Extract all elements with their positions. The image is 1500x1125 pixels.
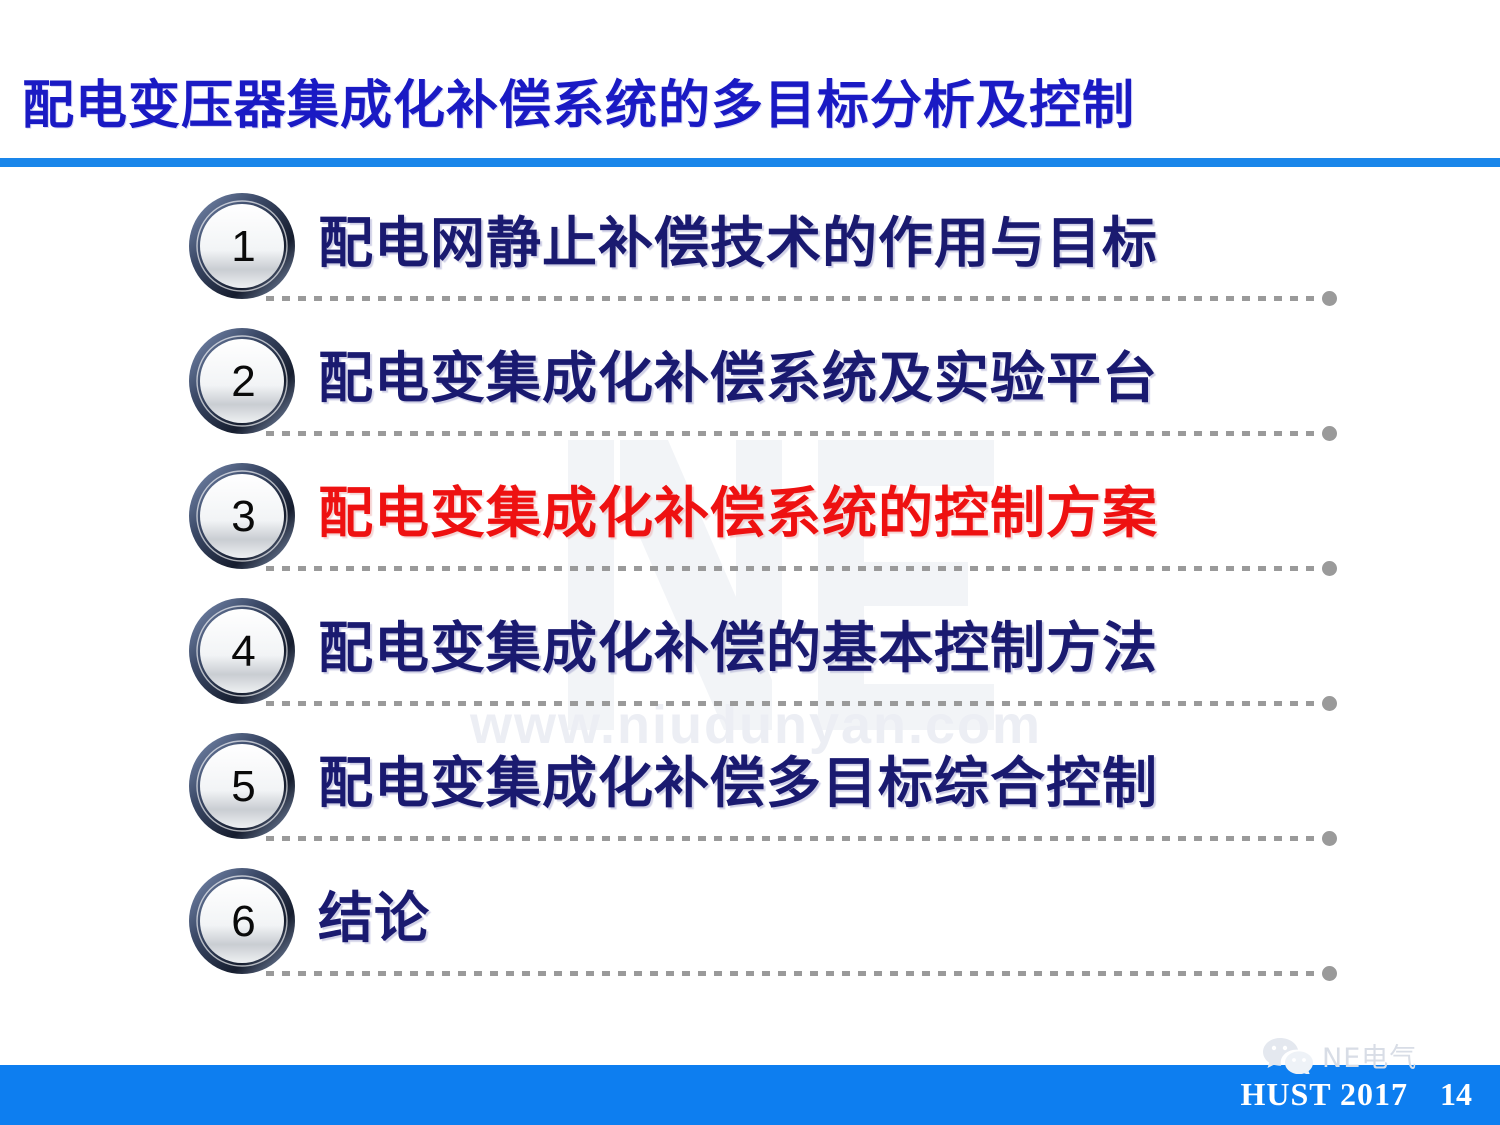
agenda-dotted-line-5 [266,836,1322,841]
number-badge-6: 6 [188,867,296,975]
slide: www.niudunyan.com 配电变压器集成化补偿系统的多目标分析及控制 [0,0,1500,1125]
agenda-item-label-4: 配电变集成化补偿的基本控制方法 [318,603,1158,683]
agenda-dot-terminator-1 [1322,291,1337,306]
badge-number-label: 1 [188,192,296,300]
agenda-item-6[interactable]: 6 结论 [0,861,1500,996]
brand-label: NE电气 [1322,1036,1417,1075]
wechat-brand-mark: NE电气 [1262,1032,1492,1078]
agenda-dotted-line-2 [266,431,1322,436]
agenda-item-label-1: 配电网静止补偿技术的作用与目标 [318,198,1158,278]
agenda-dotted-line-3 [266,566,1322,571]
agenda-item-3[interactable]: 3 配电变集成化补偿系统的控制方案 [0,456,1500,591]
agenda-dot-terminator-6 [1322,966,1337,981]
agenda-dotted-line-1 [266,296,1322,301]
badge-number-label: 4 [188,597,296,705]
number-badge-3: 3 [188,462,296,570]
agenda-dot-terminator-3 [1322,561,1337,576]
number-badge-4: 4 [188,597,296,705]
title-divider [0,158,1500,167]
agenda-item-label-2: 配电变集成化补偿系统及实验平台 [318,333,1158,413]
agenda-item-1[interactable]: 1 配电网静止补偿技术的作用与目标 [0,186,1500,321]
footer-page-number: 14 [1440,1076,1472,1113]
agenda-list: 1 配电网静止补偿技术的作用与目标 2 配电变集成化补偿系统及实验平台 [0,186,1500,996]
agenda-item-label-5: 配电变集成化补偿多目标综合控制 [318,738,1158,818]
badge-number-label: 5 [188,732,296,840]
page-title: 配电变压器集成化补偿系统的多目标分析及控制 [22,63,1135,138]
number-badge-1: 1 [188,192,296,300]
agenda-dotted-line-6 [266,971,1322,976]
number-badge-2: 2 [188,327,296,435]
agenda-dot-terminator-5 [1322,831,1337,846]
badge-number-label: 3 [188,462,296,570]
agenda-item-5[interactable]: 5 配电变集成化补偿多目标综合控制 [0,726,1500,861]
agenda-item-2[interactable]: 2 配电变集成化补偿系统及实验平台 [0,321,1500,456]
agenda-dot-terminator-2 [1322,426,1337,441]
badge-number-label: 2 [188,327,296,435]
title-area: 配电变压器集成化补偿系统的多目标分析及控制 [0,0,1500,165]
agenda-item-label-6: 结论 [318,873,430,953]
agenda-item-label-3: 配电变集成化补偿系统的控制方案 [318,468,1158,548]
number-badge-5: 5 [188,732,296,840]
wechat-icon [1262,1036,1314,1074]
agenda-item-4[interactable]: 4 配电变集成化补偿的基本控制方法 [0,591,1500,726]
agenda-dot-terminator-4 [1322,696,1337,711]
badge-number-label: 6 [188,867,296,975]
footer-conference-label: HUST 2017 [1240,1076,1408,1113]
agenda-dotted-line-4 [266,701,1322,706]
